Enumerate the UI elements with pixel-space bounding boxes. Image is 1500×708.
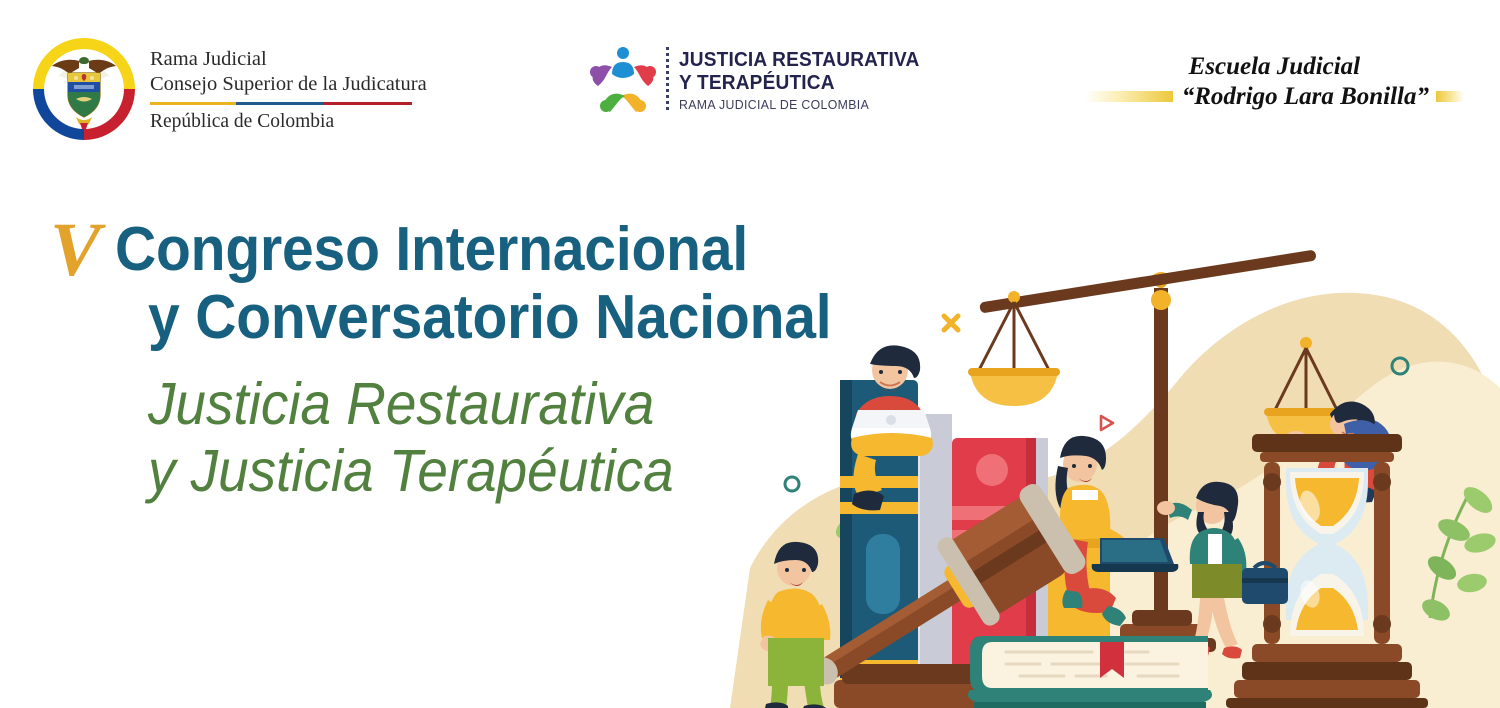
title-line-2: y Conversatorio Nacional [148, 286, 831, 349]
justicia-line-1: JUSTICIA RESTAURATIVA [679, 49, 919, 72]
title-line-1: Congreso Internacional [115, 218, 748, 281]
five-people-circle-icon [588, 44, 658, 116]
rule-segment-red [323, 102, 412, 105]
cross-mark-decoration [944, 316, 958, 330]
tricolor-rule [150, 102, 412, 105]
rule-segment-blue [236, 102, 322, 105]
justicia-line-2: Y TERAPÉUTICA [679, 72, 919, 95]
justicia-line-3: RAMA JUDICIAL DE COLOMBIA [679, 97, 919, 112]
justice-scene-illustration [730, 238, 1500, 708]
escuela-judicial-logo: Escuela Judicial “Rodrigo Lara Bonilla” [1085, 52, 1464, 111]
roman-numeral-ordinal: V [50, 214, 101, 286]
rama-judicial-logo: Rama Judicial Consejo Superior de la Jud… [28, 33, 427, 145]
dotted-divider [666, 47, 669, 113]
rama-judicial-text: Rama Judicial Consejo Superior de la Jud… [150, 33, 427, 134]
gold-bar-left [1085, 91, 1173, 102]
escuela-line-1: Escuela Judicial [1085, 52, 1464, 82]
escuela-line-2: “Rodrigo Lara Bonilla” [1182, 83, 1429, 111]
escuela-line-2-row: “Rodrigo Lara Bonilla” [1085, 83, 1464, 111]
gold-bar-right [1436, 91, 1464, 102]
page-header: Rama Judicial Consejo Superior de la Jud… [0, 0, 1500, 150]
rama-line-2: Consejo Superior de la Judicatura [150, 72, 427, 97]
colombia-coat-of-arms-roundel-icon [28, 33, 140, 145]
open-book-teal [968, 636, 1212, 708]
justicia-logo-text: JUSTICIA RESTAURATIVA Y TERAPÉUTICA RAMA… [679, 48, 938, 113]
triangle-outline-decoration [1101, 416, 1113, 430]
rule-segment-gold [150, 102, 236, 105]
rama-line-1: Rama Judicial [150, 47, 427, 72]
justicia-restaurativa-logo: JUSTICIA RESTAURATIVA Y TERAPÉUTICA RAMA… [588, 44, 938, 116]
rama-line-3: República de Colombia [150, 109, 427, 134]
